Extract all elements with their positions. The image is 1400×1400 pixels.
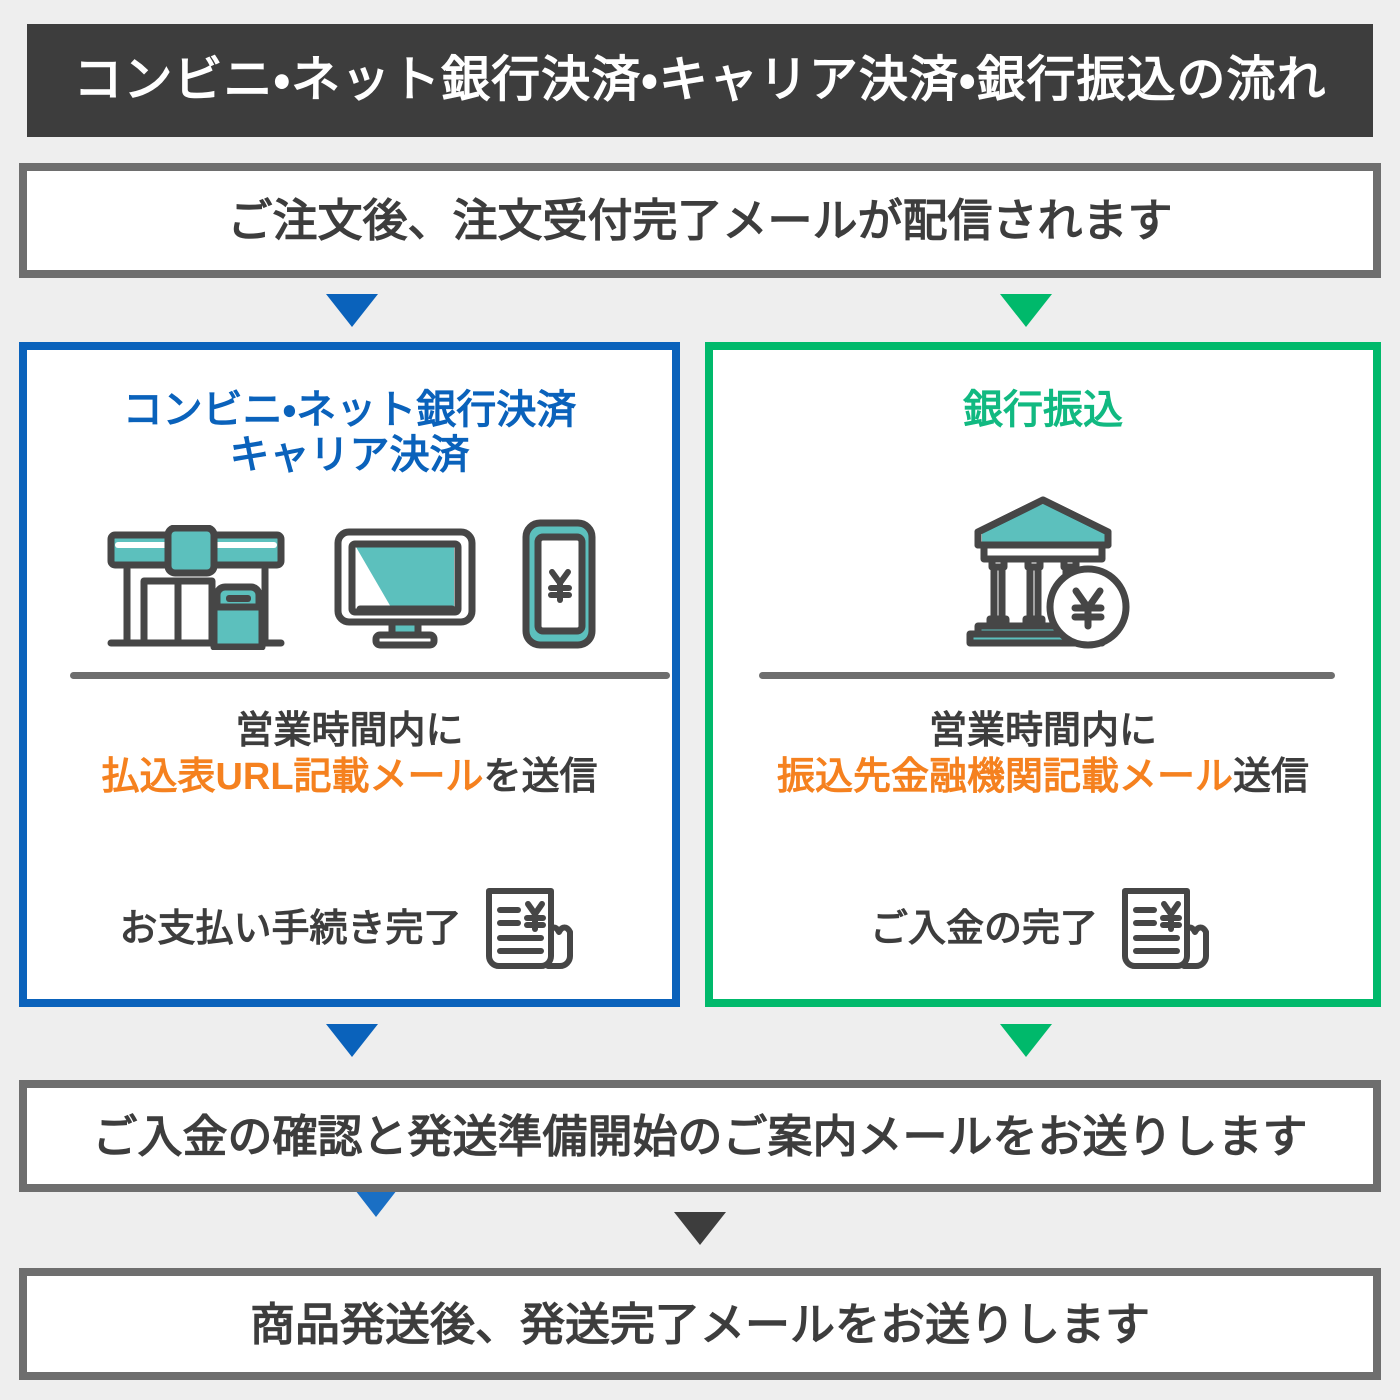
- panel-conveni-mail-highlight: 払込表URL記載メール: [101, 756, 483, 798]
- step-payment-confirmed-banner: ご入金の確認と発送準備開始のご案内メールをお送りします: [19, 1080, 1381, 1192]
- smartphone-yen-icon: [514, 518, 604, 650]
- panel-conveni-mail-suffix: を送信: [484, 756, 598, 798]
- step-shipped-banner: 商品発送後、発送完了メールをお送りします: [19, 1268, 1381, 1380]
- arrow-down-inner-conveni-icon: [355, 1190, 397, 1217]
- panel-conveni-mail-text: 営業時間内に 払込表URL記載メールを送信: [27, 708, 672, 801]
- panel-bank-mail-line2: 振込先金融機関記載メール送信: [713, 754, 1373, 800]
- arrow-down-to-bank-icon: [1000, 294, 1052, 327]
- receipt-yen-icon: [1112, 880, 1216, 978]
- panel-bank-icon-row: [713, 490, 1373, 650]
- arrow-down-bank-to-confirm-icon: [1000, 1024, 1052, 1057]
- panel-bank-title: 銀行振込: [713, 388, 1373, 433]
- panel-bank-mail-line1: 営業時間内に: [713, 708, 1373, 754]
- panel-conveni-mail-line2: 払込表URL記載メールを送信: [27, 754, 672, 800]
- arrow-down-to-conveni-icon: [326, 294, 378, 327]
- receipt-yen-icon: [476, 880, 580, 978]
- step-order-received-banner: ご注文後、注文受付完了メールが配信されます: [19, 163, 1381, 278]
- convenience-store-icon: [96, 525, 296, 650]
- panel-conveni-mail-line1: 営業時間内に: [27, 708, 672, 754]
- panel-bank-mail-highlight: 振込先金融機関記載メール: [777, 756, 1233, 798]
- panel-bank-divider: [759, 672, 1335, 679]
- step-payment-confirmed-label: ご入金の確認と発送準備開始のご案内メールをお送りします: [92, 1114, 1307, 1159]
- panel-bank-completion-label: ご入金の完了: [870, 910, 1098, 948]
- desktop-monitor-icon: [330, 525, 480, 650]
- panel-conveni-completion-label: お支払い手続き完了: [119, 910, 461, 948]
- panel-bank-mail-text: 営業時間内に 振込先金融機関記載メール送信: [713, 708, 1373, 801]
- panel-conveni-payment: コンビニ・ネット銀行決済 キャリア決済: [19, 342, 680, 1007]
- arrow-down-conveni-to-confirm-icon: [326, 1024, 378, 1057]
- arrow-down-to-shipped-icon: [674, 1212, 726, 1245]
- flow-diagram: コンビニ・ネット銀行決済・キャリア決済・銀行振込の流れ ご注文後、注文受付完了メ…: [0, 0, 1400, 1400]
- page-title-bar: コンビニ・ネット銀行決済・キャリア決済・銀行振込の流れ: [27, 24, 1373, 137]
- panel-bank-completion-row: ご入金の完了: [713, 880, 1373, 978]
- step-shipped-label: 商品発送後、発送完了メールをお送りします: [250, 1302, 1150, 1347]
- panel-conveni-icon-row: [27, 520, 672, 650]
- panel-bank-transfer: 銀行振込: [705, 342, 1381, 1007]
- page-title: コンビニ・ネット銀行決済・キャリア決済・銀行振込の流れ: [74, 56, 1327, 105]
- panel-bank-mail-suffix: 送信: [1233, 756, 1309, 798]
- bank-building-yen-icon: [948, 495, 1138, 650]
- panel-conveni-title: コンビニ・ネット銀行決済 キャリア決済: [27, 388, 672, 478]
- panel-conveni-completion-row: お支払い手続き完了: [27, 880, 672, 978]
- panel-conveni-divider: [70, 672, 670, 679]
- step-order-received-label: ご注文後、注文受付完了メールが配信されます: [227, 198, 1172, 243]
